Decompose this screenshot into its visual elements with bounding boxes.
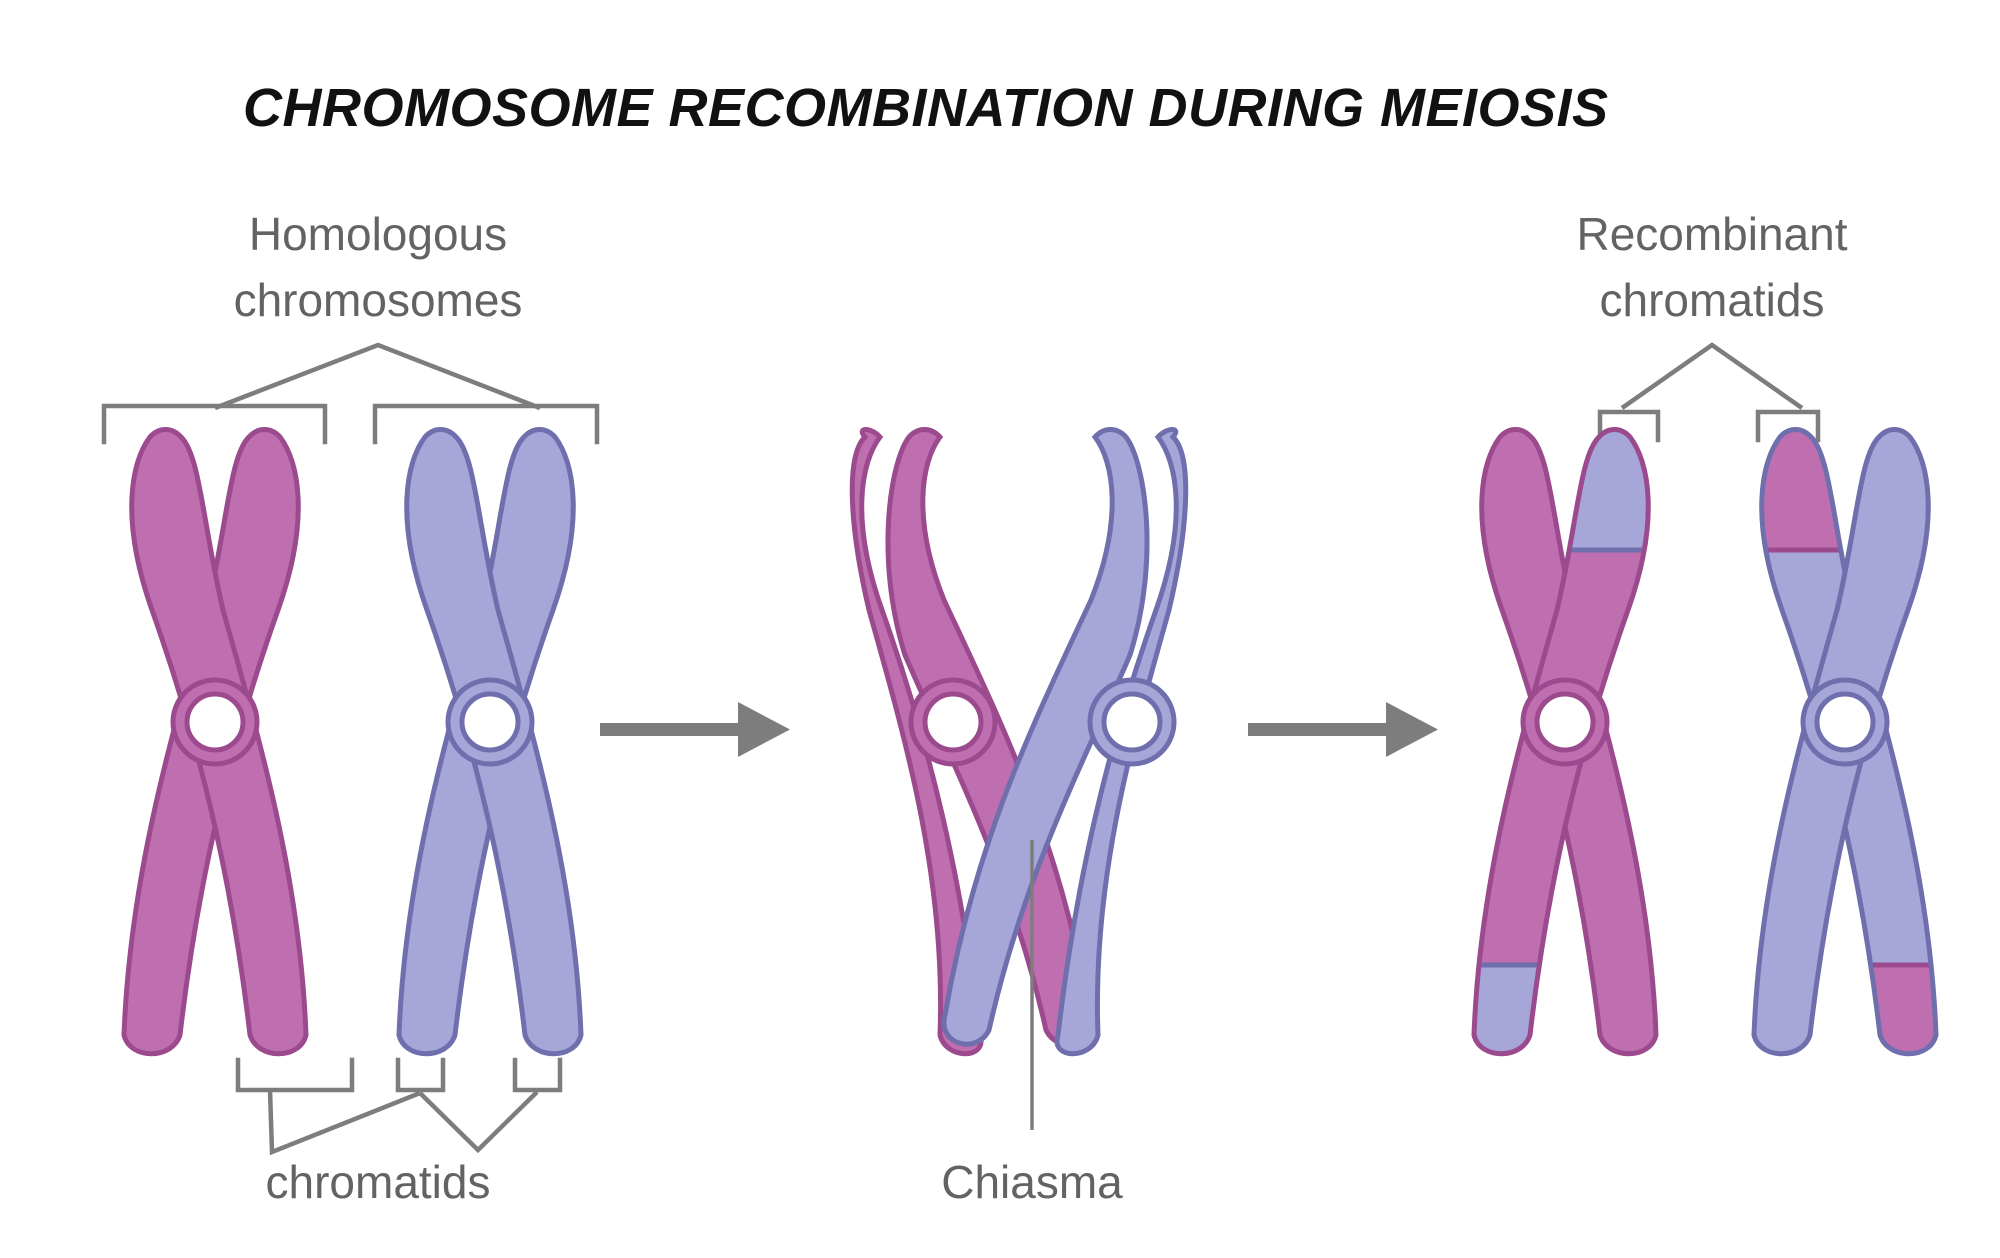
chromosome-paternal-blue xyxy=(399,430,581,1054)
homologous-pointer-chevron xyxy=(215,345,540,408)
homologous-label-line2: chromosomes xyxy=(234,274,523,326)
chromosome-recombination-figure: CHROMOSOME RECOMBINATION DURING MEIOSIS … xyxy=(0,0,2000,1258)
stage-recombinant-pair: Recombinant chromatids xyxy=(1450,208,1980,1105)
chromosome-recombinant-pink xyxy=(1450,380,1700,1105)
bracket-chromatid-2 xyxy=(398,1060,443,1090)
recombinant-label-line1: Recombinant xyxy=(1576,208,1847,260)
chromatid-pointer-right xyxy=(420,1092,537,1150)
homologous-label-line1: Homologous xyxy=(249,208,507,260)
chromosome-maternal-pink xyxy=(124,430,306,1054)
chromatids-callout: chromatids xyxy=(238,1060,560,1208)
page-title: CHROMOSOME RECOMBINATION DURING MEIOSIS xyxy=(243,78,1609,138)
centromere-core-blue xyxy=(1104,694,1160,750)
chromatid-pointer-left xyxy=(270,1090,420,1152)
bracket-homolog-blue xyxy=(375,406,597,442)
diagram-canvas: CHROMOSOME RECOMBINATION DURING MEIOSIS … xyxy=(0,0,2000,1258)
arrow-head xyxy=(738,702,790,757)
bracket-chromatid-3 xyxy=(515,1060,560,1090)
arrow-shaft xyxy=(600,723,745,736)
stage-crossing-over: Chiasma xyxy=(850,380,1190,1208)
bracket-chromatid-1 xyxy=(238,1060,352,1090)
centromere-core-pink xyxy=(925,694,981,750)
arrow-head xyxy=(1386,702,1438,757)
arrow-shaft xyxy=(1248,723,1393,736)
recombinant-label-line2: chromatids xyxy=(1600,274,1825,326)
centromere-core xyxy=(1817,694,1873,750)
chiasma-label: Chiasma xyxy=(941,1156,1123,1208)
arrow-stage1-stage2 xyxy=(600,702,790,757)
stage-homologous-pair: Homologous chromosomes c xyxy=(104,208,597,1208)
bracket-homolog-pink xyxy=(104,406,325,442)
centromere-core xyxy=(462,694,518,750)
chromatids-label: chromatids xyxy=(266,1156,491,1208)
centromere-core xyxy=(187,694,243,750)
chromosome-recombinant-blue xyxy=(1730,380,1980,1105)
centromere-core xyxy=(1537,694,1593,750)
recombinant-pointer-chevron xyxy=(1622,345,1802,408)
arrow-stage2-stage3 xyxy=(1248,702,1438,757)
